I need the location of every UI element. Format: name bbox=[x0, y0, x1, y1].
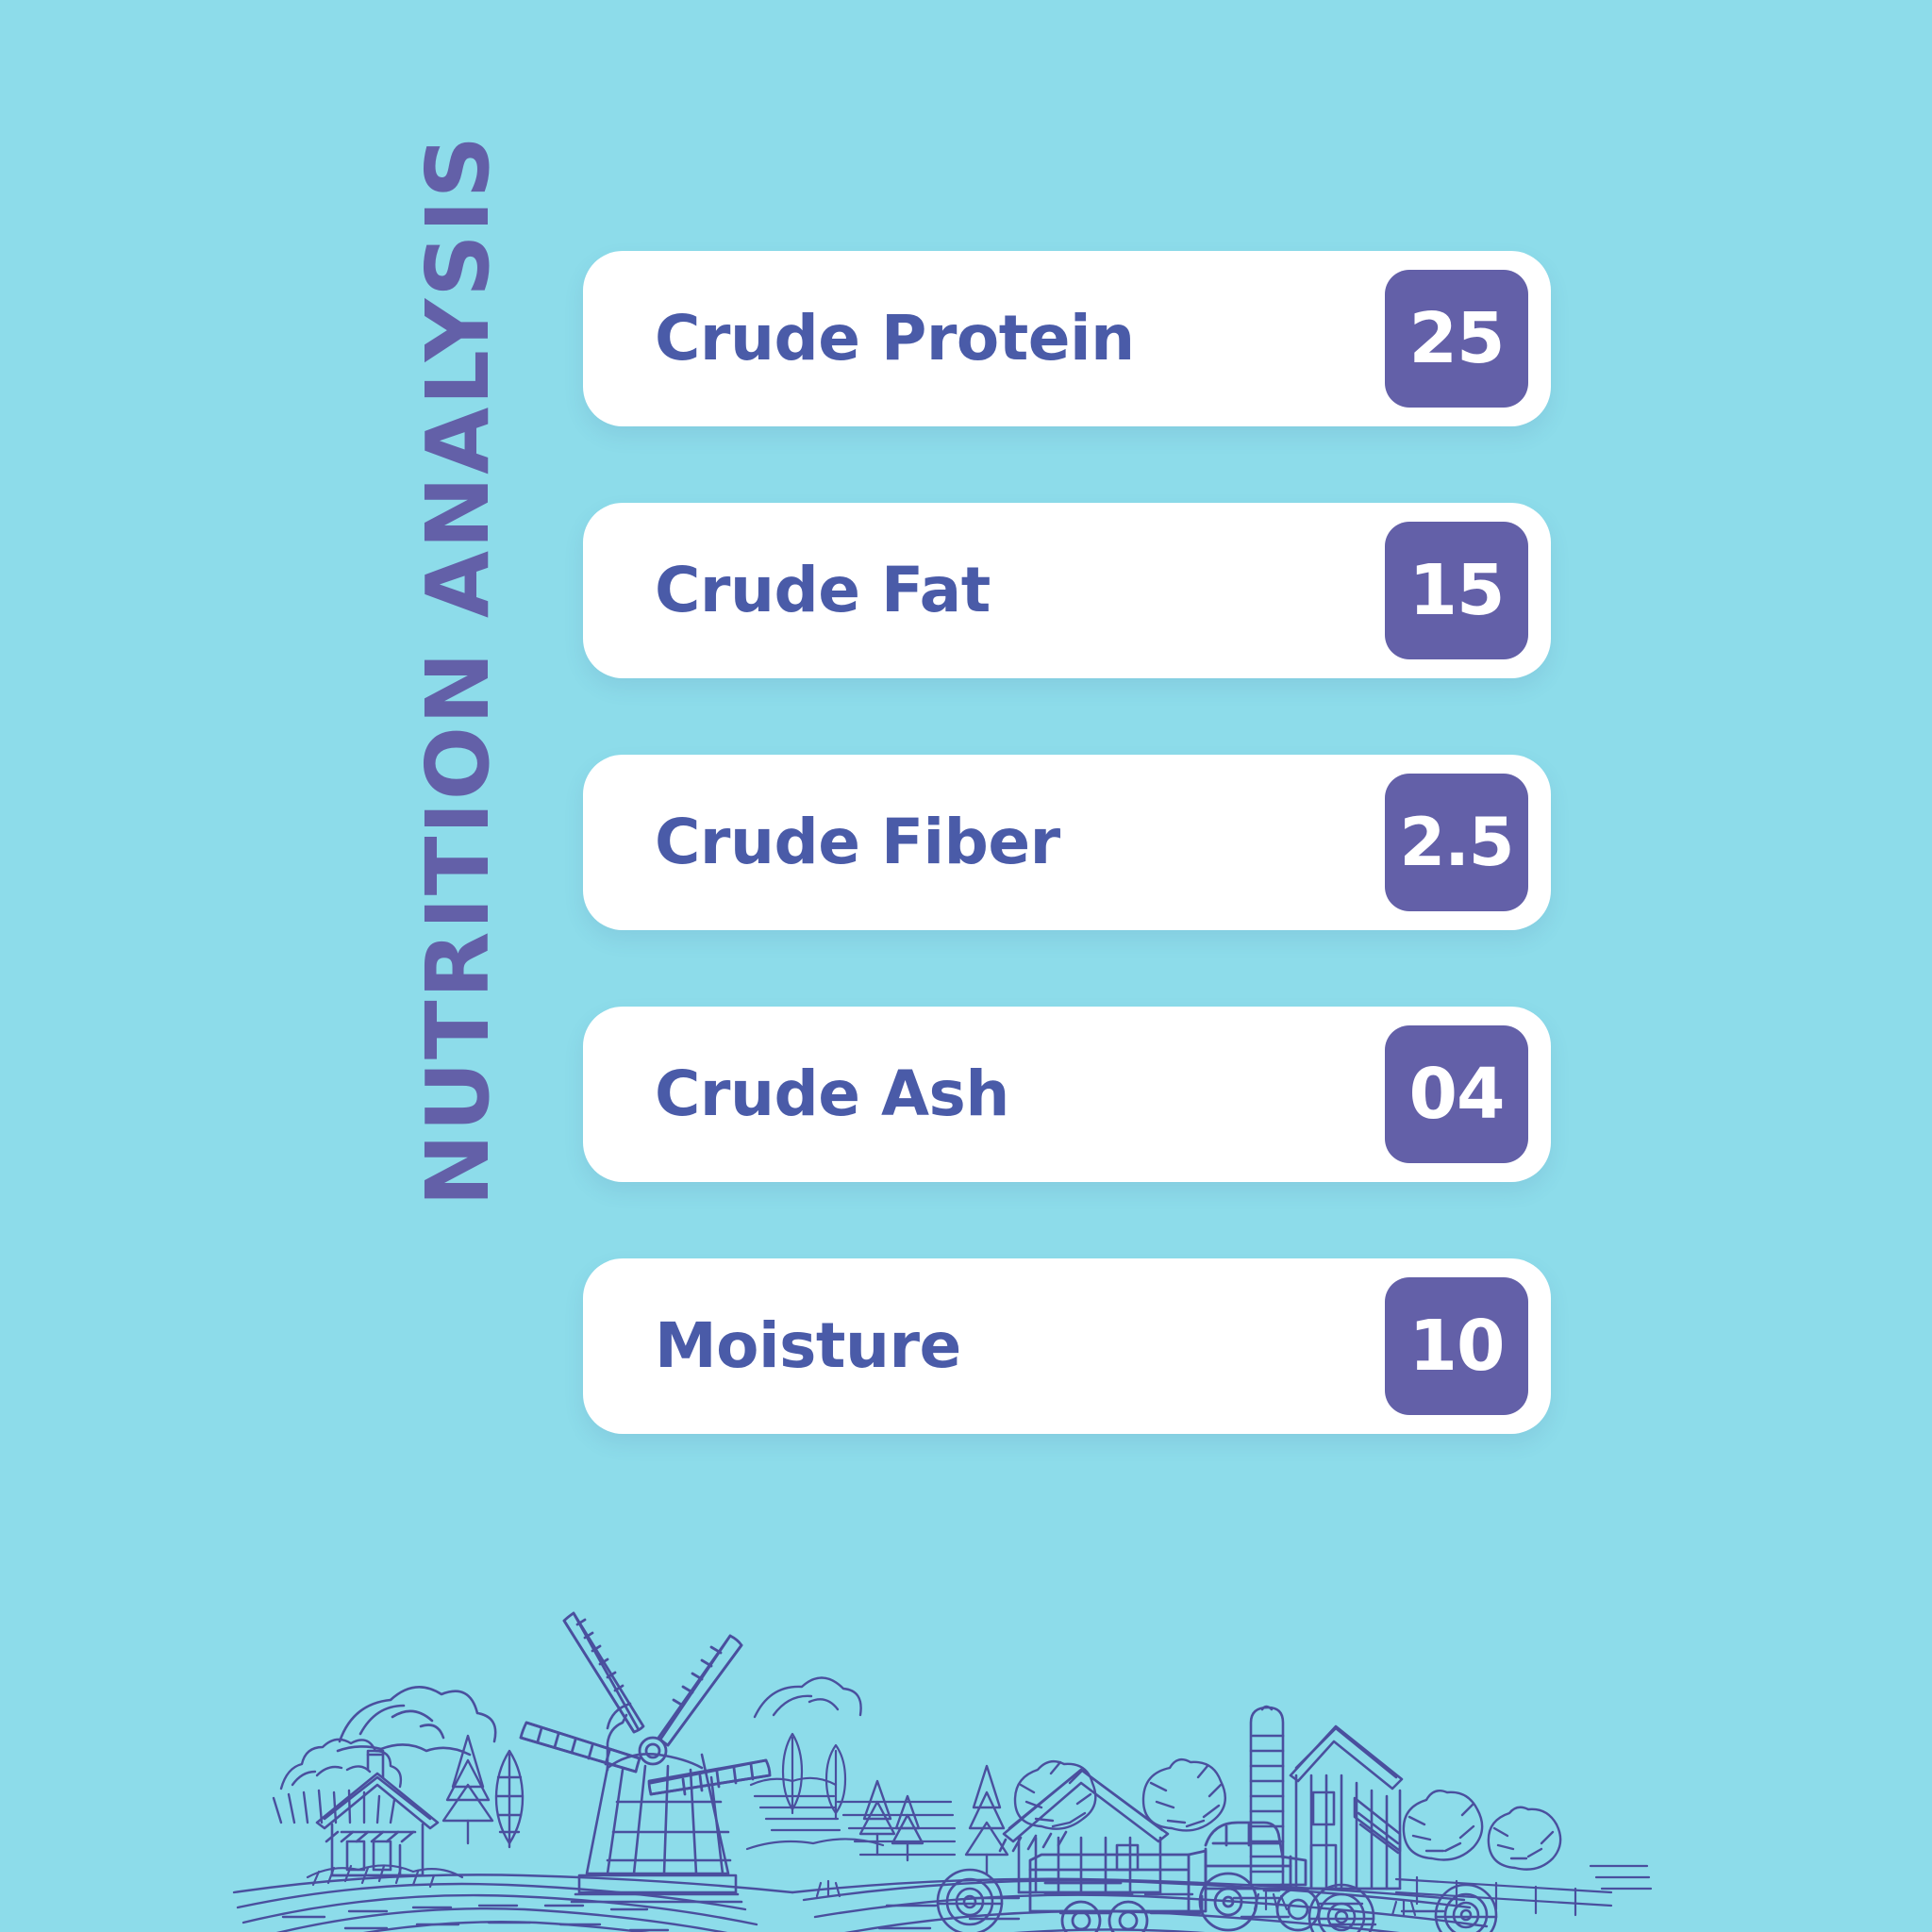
nutrition-label: Moisture bbox=[655, 1315, 961, 1377]
page-title-container: NUTRITION ANALYSIS bbox=[0, 170, 528, 1170]
nutrition-label: Crude Ash bbox=[655, 1063, 1009, 1125]
page-title: NUTRITION ANALYSIS bbox=[415, 134, 502, 1207]
nutrition-row-crude-ash[interactable]: Crude Ash 04 bbox=[583, 1007, 1551, 1182]
nutrition-value-badge: 04 bbox=[1385, 1025, 1528, 1163]
nutrition-value-badge: 15 bbox=[1385, 522, 1528, 659]
nutrition-row-crude-fiber[interactable]: Crude Fiber 2.5 bbox=[583, 755, 1551, 930]
nutrition-label: Crude Fiber bbox=[655, 811, 1060, 874]
nutrition-card-list: Crude Protein 25 Crude Fat 15 Crude Fibe… bbox=[583, 251, 1551, 1434]
nutrition-label: Crude Protein bbox=[655, 308, 1135, 370]
nutrition-value-badge: 25 bbox=[1385, 270, 1528, 408]
nutrition-value-badge: 10 bbox=[1385, 1277, 1528, 1415]
nutrition-row-crude-fat[interactable]: Crude Fat 15 bbox=[583, 503, 1551, 678]
farm-landscape-icon bbox=[226, 1566, 1707, 1932]
nutrition-row-crude-protein[interactable]: Crude Protein 25 bbox=[583, 251, 1551, 426]
nutrition-row-moisture[interactable]: Moisture 10 bbox=[583, 1258, 1551, 1434]
nutrition-analysis-poster: NUTRITION ANALYSIS Crude Protein 25 Crud… bbox=[0, 0, 1932, 1932]
nutrition-value-badge: 2.5 bbox=[1385, 774, 1528, 911]
nutrition-label: Crude Fat bbox=[655, 559, 991, 622]
farm-landscape-svg bbox=[226, 1566, 1707, 1932]
